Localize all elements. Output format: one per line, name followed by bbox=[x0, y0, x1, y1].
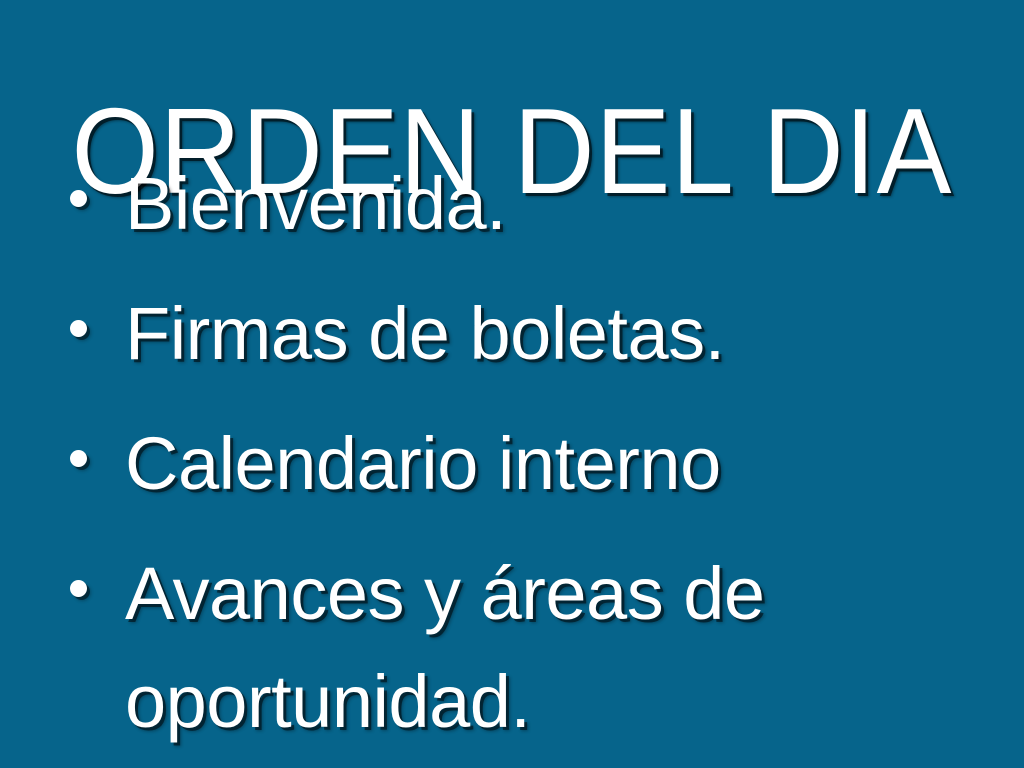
list-item: Bienvenida. bbox=[0, 150, 1024, 258]
list-item: Avances y áreas de oportunidad. bbox=[0, 540, 1024, 756]
list-item: Firmas de boletas. bbox=[0, 280, 1024, 388]
agenda-bullet-list: Bienvenida. Firmas de boletas. Calendari… bbox=[0, 150, 1024, 756]
list-item-label: Firmas de boletas. bbox=[125, 280, 805, 388]
bullet-dot-icon bbox=[70, 190, 87, 207]
bullet-dot-icon bbox=[70, 320, 87, 337]
presentation-slide: ORDEN DEL DIA Bienvenida. Firmas de bole… bbox=[0, 0, 1024, 768]
bullet-dot-icon bbox=[70, 580, 87, 597]
list-item-label: Calendario interno bbox=[125, 410, 805, 518]
bullet-dot-icon bbox=[70, 450, 87, 467]
list-item: Calendario interno bbox=[0, 410, 1024, 518]
list-item-label: Avances y áreas de oportunidad. bbox=[125, 540, 805, 756]
list-item-label: Bienvenida. bbox=[125, 150, 805, 258]
